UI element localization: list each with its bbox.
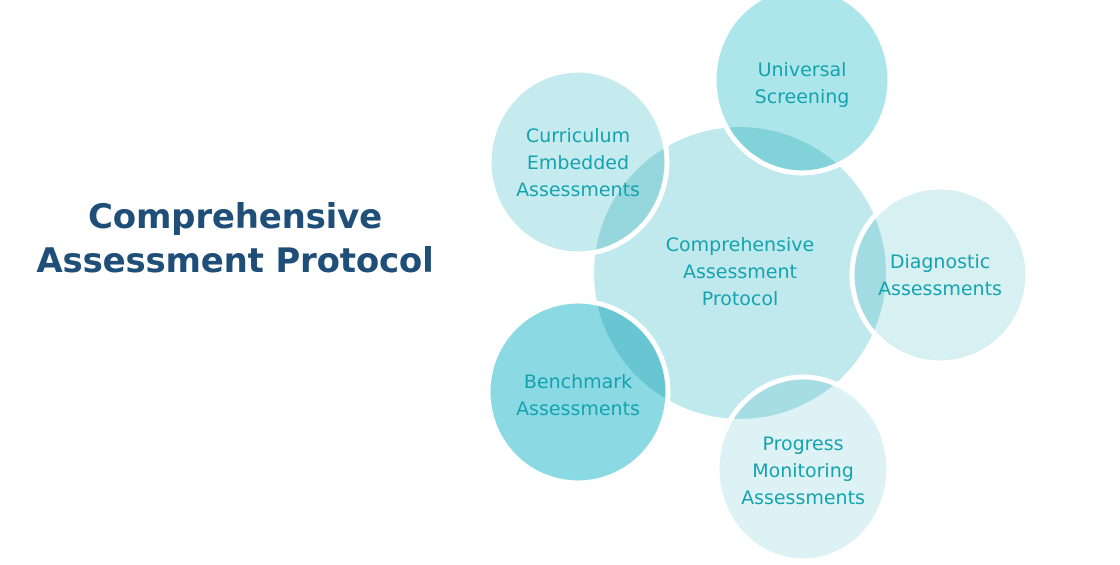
bubble-diagram (0, 0, 1120, 565)
slide-canvas: Comprehensive Assessment Protocol Compre… (0, 0, 1120, 565)
